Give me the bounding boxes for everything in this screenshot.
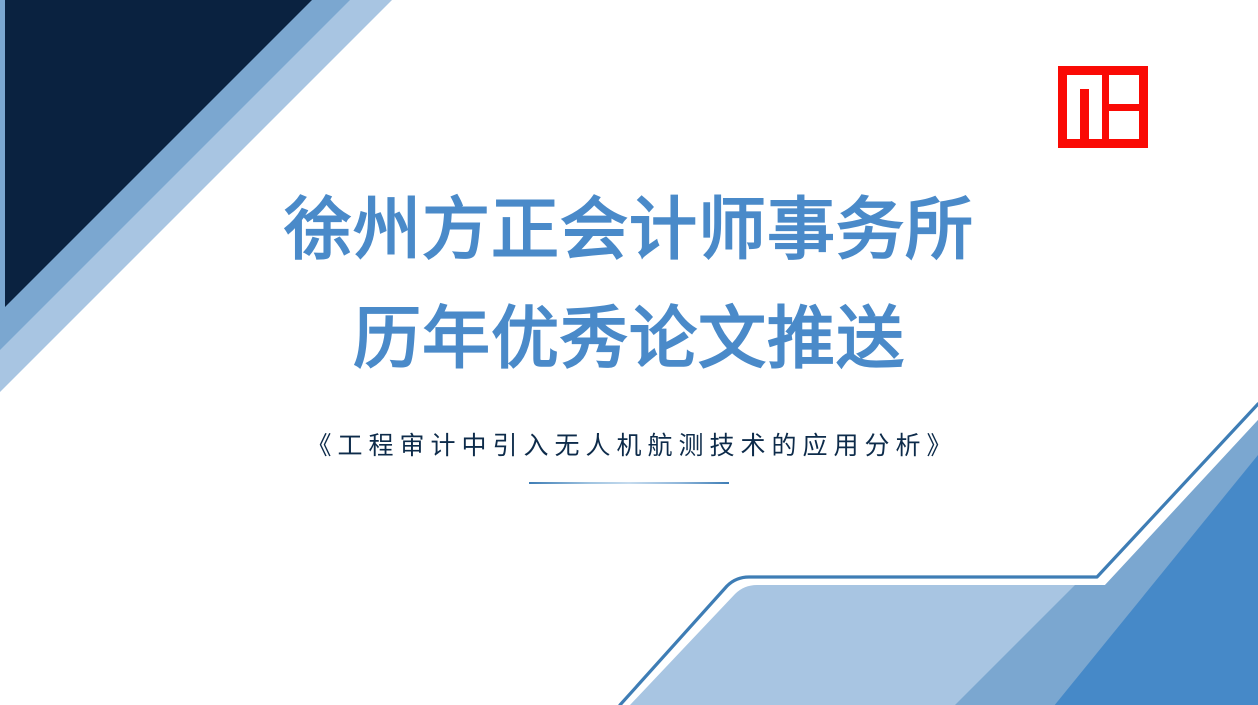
- page-title-line-1: 徐州方正会计师事务所: [0, 191, 1258, 269]
- slide-subtitle: 《工程审计中引入无人机航测技术的应用分析》: [0, 428, 1258, 464]
- divider-container: [0, 482, 1258, 484]
- page-title-line-2: 历年优秀论文推送: [0, 300, 1258, 378]
- subtitle-divider-line: [529, 482, 729, 484]
- slide-text-block: 徐州方正会计师事务所 历年优秀论文推送 《工程审计中引入无人机航测技术的应用分析…: [0, 0, 1258, 705]
- title-slide: 徐州方正会计师事务所 历年优秀论文推送 《工程审计中引入无人机航测技术的应用分析…: [0, 0, 1258, 705]
